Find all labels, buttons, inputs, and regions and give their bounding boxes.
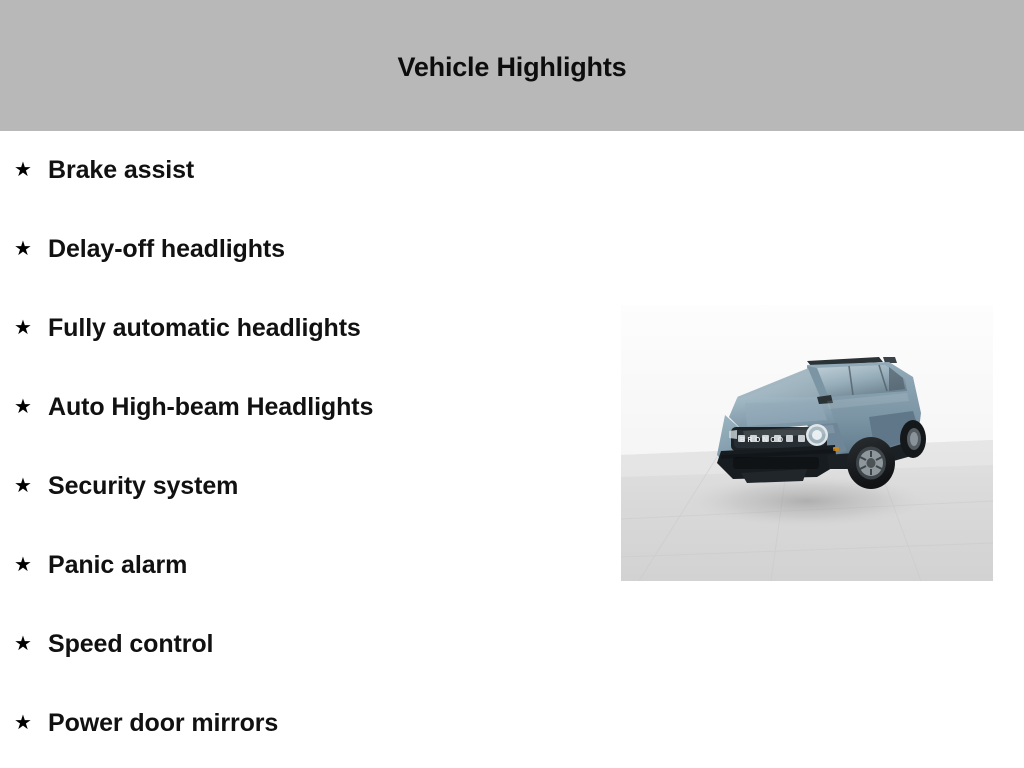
star-bullet-icon: ★ <box>14 318 36 338</box>
star-bullet-icon: ★ <box>14 713 36 733</box>
list-item: ★ Brake assist <box>0 131 600 210</box>
list-item: ★ Fully automatic headlights <box>0 289 600 368</box>
vehicle-photo: BRONCO <box>621 305 993 581</box>
highlight-label: Auto High-beam Headlights <box>48 393 373 422</box>
highlight-label: Security system <box>48 472 238 501</box>
highlight-label: Brake assist <box>48 156 194 185</box>
highlight-label: Fully automatic headlights <box>48 314 361 343</box>
highlight-label: Power door mirrors <box>48 709 278 738</box>
list-item: ★ Panic alarm <box>0 526 600 605</box>
list-item: ★ Auto High-beam Headlights <box>0 368 600 447</box>
highlight-label: Delay-off headlights <box>48 235 285 264</box>
highlight-label: Speed control <box>48 630 213 659</box>
star-bullet-icon: ★ <box>14 476 36 496</box>
list-item: ★ Speed control <box>0 605 600 684</box>
vehicle-highlights-list: ★ Brake assist ★ Delay-off headlights ★ … <box>0 131 600 763</box>
page-title: Vehicle Highlights <box>0 51 1024 83</box>
highlight-label: Panic alarm <box>48 551 187 580</box>
vehicle-photo-image: BRONCO <box>621 305 993 581</box>
star-bullet-icon: ★ <box>14 555 36 575</box>
list-item: ★ Delay-off headlights <box>0 210 600 289</box>
list-item: ★ Power door mirrors <box>0 684 600 763</box>
star-bullet-icon: ★ <box>14 634 36 654</box>
star-bullet-icon: ★ <box>14 397 36 417</box>
star-bullet-icon: ★ <box>14 239 36 259</box>
page-header-band: Vehicle Highlights <box>0 0 1024 131</box>
list-item: ★ Security system <box>0 447 600 526</box>
star-bullet-icon: ★ <box>14 160 36 180</box>
